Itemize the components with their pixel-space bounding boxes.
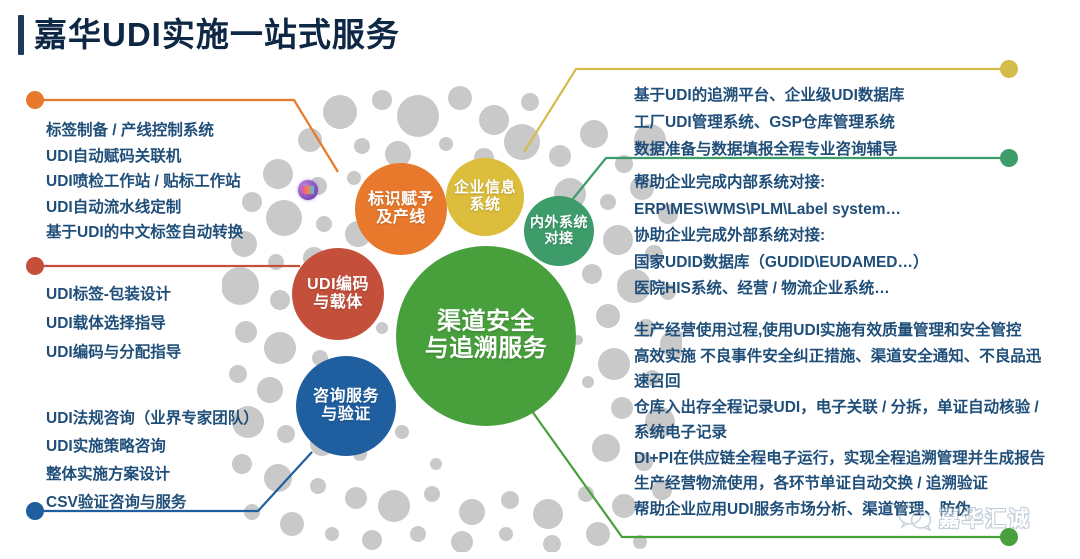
wechat-icon: [898, 505, 932, 531]
node-consulting-validation[interactable]: 咨询服务 与验证: [296, 356, 396, 456]
text-line: UDI自动流水线定制: [46, 195, 243, 221]
text-line: UDI自动赋码关联机: [46, 144, 243, 170]
node-code-line2: 与载体: [307, 294, 369, 312]
node-consult-line2: 与验证: [313, 406, 379, 424]
text-line: 数据准备与数据填报全程专业咨询辅导: [634, 136, 904, 163]
text-line: UDI法规咨询（业界专家团队）: [46, 405, 259, 433]
node-main-line2: 与追溯服务: [425, 336, 548, 363]
node-main-line1: 渠道安全: [425, 309, 548, 336]
node-interface-line1: 内外系统: [530, 215, 588, 231]
text-line: 系统电子记录: [634, 420, 1045, 446]
title-text: 嘉华UDI实施一站式服务: [34, 14, 400, 56]
text-block-label-line: 标签制备 / 产线控制系统 UDI自动赋码关联机 UDI喷检工作站 / 贴标工作…: [46, 118, 243, 246]
text-line: UDI实施策略咨询: [46, 433, 259, 461]
text-line: 协助企业完成外部系统对接:: [634, 223, 929, 250]
text-block-system-interface: 帮助企业完成内部系统对接: ERP\MES\WMS\PLM\Label syst…: [634, 170, 929, 303]
watermark-brand: 嘉华汇诚: [939, 503, 1031, 533]
node-code-line1: UDI编码: [307, 276, 369, 294]
page-title: 嘉华UDI实施一站式服务: [18, 14, 400, 56]
text-line: 生产经营物流使用，各环节单证自动交换 / 追溯验证: [634, 471, 1045, 497]
text-line: 帮助企业完成内部系统对接:: [634, 170, 929, 197]
node-internal-external-interface[interactable]: 内外系统 对接: [524, 196, 594, 266]
text-line: 速召回: [634, 369, 1045, 395]
watermark: 嘉华汇诚: [898, 503, 1031, 533]
text-block-consulting: UDI法规咨询（业界专家团队） UDI实施策略咨询 整体实施方案设计 CSV验证…: [46, 405, 259, 517]
text-line: 基于UDI的追溯平台、企业级UDI数据库: [634, 82, 904, 109]
decorative-purple-icon: [298, 180, 318, 200]
node-info-line1: 企业信息: [454, 180, 516, 197]
text-line: UDI标签-包装设计: [46, 280, 181, 309]
text-line: UDI载体选择指导: [46, 309, 181, 338]
text-line: CSV验证咨询与服务: [46, 489, 259, 517]
text-line: 高效实施 不良事件安全纠正措施、渠道安全通知、不良品迅: [634, 344, 1045, 370]
node-label-line1: 标识赋予: [368, 191, 434, 209]
text-line: 生产经营使用过程,使用UDI实施有效质量管理和安全管控: [634, 318, 1045, 344]
node-consult-line1: 咨询服务: [313, 388, 379, 406]
node-label-line2: 及产线: [368, 209, 434, 227]
text-block-enterprise-info: 基于UDI的追溯平台、企业级UDI数据库 工厂UDI管理系统、GSP仓库管理系统…: [634, 82, 904, 163]
title-accent-bar: [18, 15, 24, 55]
node-enterprise-information-system[interactable]: 企业信息 系统: [446, 158, 524, 236]
text-line: 医院HIS系统、经营 / 物流企业系统…: [634, 276, 929, 303]
text-line: UDI编码与分配指导: [46, 338, 181, 367]
text-line: 基于UDI的中文标签自动转换: [46, 220, 243, 246]
text-line: ERP\MES\WMS\PLM\Label system…: [634, 197, 929, 224]
text-block-udi-code: UDI标签-包装设计 UDI载体选择指导 UDI编码与分配指导: [46, 280, 181, 367]
text-line: 仓库入出存全程记录UDI，电子关联 / 分拆，单证自动核验 /: [634, 395, 1045, 421]
node-info-line2: 系统: [454, 197, 516, 214]
node-udi-code-carrier[interactable]: UDI编码 与载体: [292, 248, 384, 340]
text-block-traceability: 生产经营使用过程,使用UDI实施有效质量管理和安全管控 高效实施 不良事件安全纠…: [634, 318, 1045, 522]
text-line: 整体实施方案设计: [46, 461, 259, 489]
text-line: 国家UDID数据库（GUDID\EUDAMED…）: [634, 250, 929, 277]
text-line: 标签制备 / 产线控制系统: [46, 118, 243, 144]
slide-canvas: 嘉华UDI实施一站式服务: [0, 0, 1080, 559]
node-label-assignment-production[interactable]: 标识赋予 及产线: [355, 163, 447, 255]
text-line: 工厂UDI管理系统、GSP仓库管理系统: [634, 109, 904, 136]
node-interface-line2: 对接: [530, 231, 588, 247]
text-line: UDI喷检工作站 / 贴标工作站: [46, 169, 243, 195]
text-line: DI+PI在供应链全程电子运行，实现全程追溯管理并生成报告: [634, 446, 1045, 472]
node-channel-safety-traceability[interactable]: 渠道安全 与追溯服务: [396, 246, 576, 426]
